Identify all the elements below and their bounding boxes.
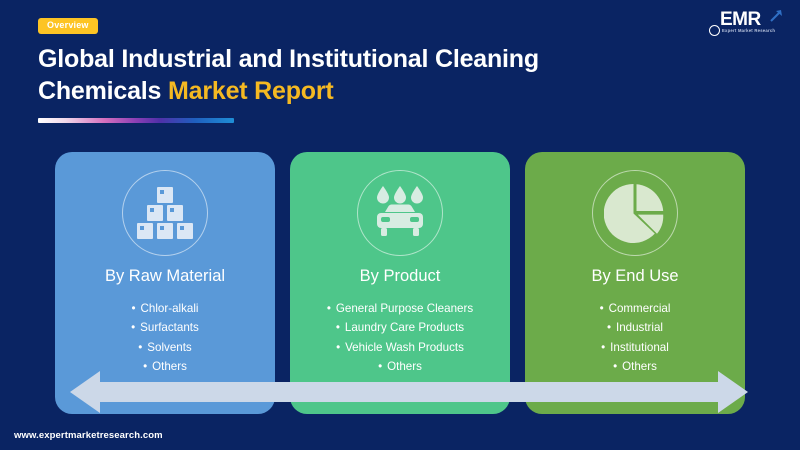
- logo-text: EMR: [720, 10, 761, 29]
- list-item: •Solvents: [55, 338, 275, 357]
- overview-badge: Overview: [38, 18, 98, 34]
- logo-tagline: Expert Market Research: [722, 29, 775, 33]
- card-title: By Raw Material: [55, 268, 275, 285]
- list-item-label: Chlor-alkali: [141, 302, 199, 315]
- logo-ring-icon: [709, 25, 720, 36]
- card-title: By End Use: [525, 268, 745, 285]
- title-accent: Market Report: [168, 77, 334, 105]
- bullet-icon: •: [600, 299, 609, 318]
- list-item-label: Solvents: [147, 341, 191, 354]
- bullet-icon: •: [131, 318, 140, 337]
- boxes-icon: [135, 185, 195, 241]
- bullet-icon: •: [601, 338, 610, 357]
- list-item: •Commercial: [525, 299, 745, 318]
- car-wash-icon: [369, 184, 431, 242]
- list-item: •Laundry Care Products: [290, 318, 510, 337]
- title-line-2: Chemicals: [38, 77, 161, 105]
- pie-chart-icon-wrap: [592, 170, 678, 256]
- card-bullet-list: •Commercial •Industrial •Institutional •…: [525, 299, 745, 377]
- card-bullet-list: •Chlor-alkali •Surfactants •Solvents •Ot…: [55, 299, 275, 377]
- list-item-label: Laundry Care Products: [345, 321, 464, 334]
- title-line-1: Global Industrial and Institutional Clea…: [38, 45, 539, 73]
- list-item-label: Commercial: [609, 302, 671, 315]
- pie-chart-icon: [604, 182, 666, 244]
- slide-canvas: Overview EMR Expert Market Research Glob…: [0, 0, 800, 450]
- list-item: •Surfactants: [55, 318, 275, 337]
- list-item: •Vehicle Wash Products: [290, 338, 510, 357]
- list-item: •Industrial: [525, 318, 745, 337]
- footer-url: www.expertmarketresearch.com: [14, 430, 163, 441]
- list-item-label: Surfactants: [140, 321, 199, 334]
- bullet-icon: •: [607, 318, 616, 337]
- logo-arrow-icon: [768, 8, 784, 24]
- title-divider: [38, 118, 234, 123]
- page-title: Global Industrial and Institutional Clea…: [38, 44, 638, 107]
- list-item: •Chlor-alkali: [55, 299, 275, 318]
- boxes-icon-wrap: [122, 170, 208, 256]
- bullet-icon: •: [138, 338, 147, 357]
- list-item: •Institutional: [525, 338, 745, 357]
- bullet-icon: •: [132, 299, 141, 318]
- card-title: By Product: [290, 268, 510, 285]
- bullet-icon: •: [336, 318, 345, 337]
- emr-logo: EMR Expert Market Research: [702, 8, 786, 42]
- list-item: •General Purpose Cleaners: [290, 299, 510, 318]
- bullet-icon: •: [327, 299, 336, 318]
- car-wash-icon-wrap: [357, 170, 443, 256]
- list-item-label: Industrial: [616, 321, 663, 334]
- list-item-label: Institutional: [610, 341, 669, 354]
- list-item-label: General Purpose Cleaners: [336, 302, 473, 315]
- double-headed-arrow-icon: [70, 371, 748, 413]
- bullet-icon: •: [336, 338, 345, 357]
- list-item-label: Vehicle Wash Products: [345, 341, 464, 354]
- card-bullet-list: •General Purpose Cleaners •Laundry Care …: [290, 299, 510, 377]
